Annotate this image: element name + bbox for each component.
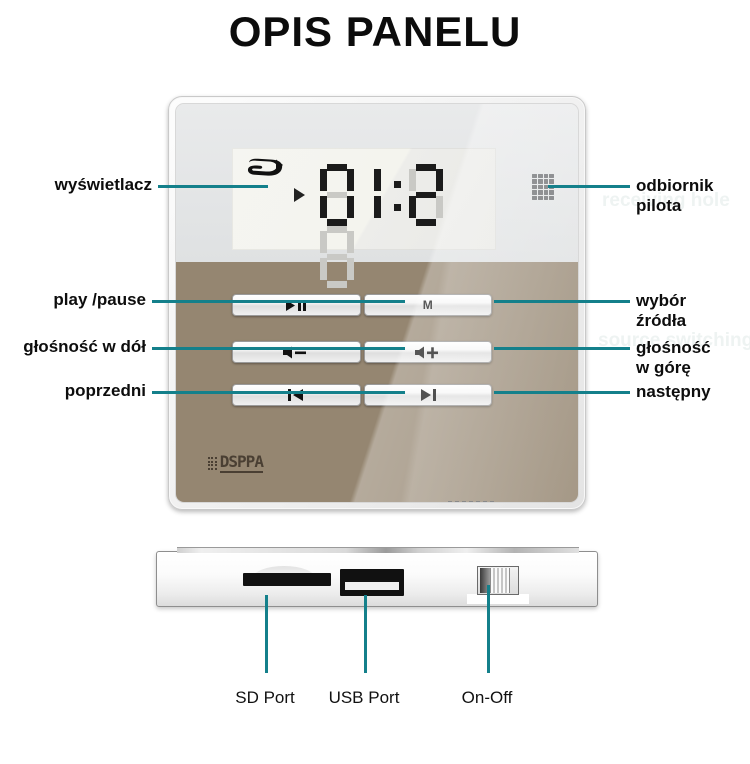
lcd-display [232,148,496,250]
previous-track-button[interactable] [232,384,361,406]
callout-label-next: następny [636,382,711,402]
leader-line-previous [152,391,405,394]
sd-card-slot [243,573,331,586]
callout-label-previous: poprzedni [0,381,146,401]
mode-source-button[interactable]: M [364,294,493,316]
volume-up-button[interactable] [364,341,493,363]
leader-line-volume-up [494,347,630,350]
callout-label-ir-receiver-line1: odbiornik [636,176,713,196]
volume-down-button[interactable] [232,341,361,363]
button-row-2 [232,341,492,363]
callout-label-ir-receiver-line2: pilota [636,196,681,216]
callout-label-volume-up-line2: w górę [636,358,691,378]
brand-name: DSPPA [220,454,263,473]
usb-port [340,569,404,596]
callout-label-volume-down: głośność w dół [0,337,146,357]
power-switch-knob[interactable] [490,568,510,593]
panel-bottom-vent [448,501,496,503]
callout-label-usb-port: USB Port [299,688,429,708]
callout-label-power: On-Off [422,688,552,708]
brand-logo: DSPPA [208,454,263,473]
front-panel-inner: M [175,103,579,503]
leader-line-volume-down [152,347,405,350]
callout-label-source-select-line1: wybór [636,291,686,311]
front-panel: M [168,96,586,510]
play-triangle-icon [294,188,305,202]
leader-line-ir-receiver [548,185,630,188]
lcd-digit-5 [320,226,354,288]
leader-line-sd-port [265,595,268,673]
callout-label-volume-up-line1: głośność [636,338,711,358]
button-row-3 [232,384,492,406]
callout-label-play-pause: play /pause [0,290,146,310]
leader-line-display [158,185,268,188]
lcd-digit-1 [363,164,381,226]
leader-line-usb-port [364,595,367,673]
sd-card-logo-icon [246,157,286,179]
brand-dot-matrix-icon [208,457,217,469]
button-row-1: M [232,294,492,316]
panel-description-diagram: OPIS PANELU receiving hole source switch… [0,0,750,764]
callout-label-display: wyświetlacz [0,175,152,195]
leader-line-play-pause [152,300,405,303]
leader-line-power [487,585,490,673]
side-edge-view [156,551,598,607]
leader-line-source-select [494,300,630,303]
power-switch[interactable] [477,566,519,595]
callout-label-source-select-line2: źródła [636,311,686,331]
leader-line-next [494,391,630,394]
lcd-colon [391,164,405,226]
play-pause-button[interactable] [232,294,361,316]
page-title: OPIS PANELU [0,8,750,56]
usb-tongue [345,582,399,590]
lcd-digit-0 [320,164,354,226]
clock-readout [320,164,490,236]
power-switch-base [467,594,529,604]
next-track-button[interactable] [364,384,493,406]
lcd-digit-2 [409,164,443,226]
side-top-lip [177,547,579,553]
